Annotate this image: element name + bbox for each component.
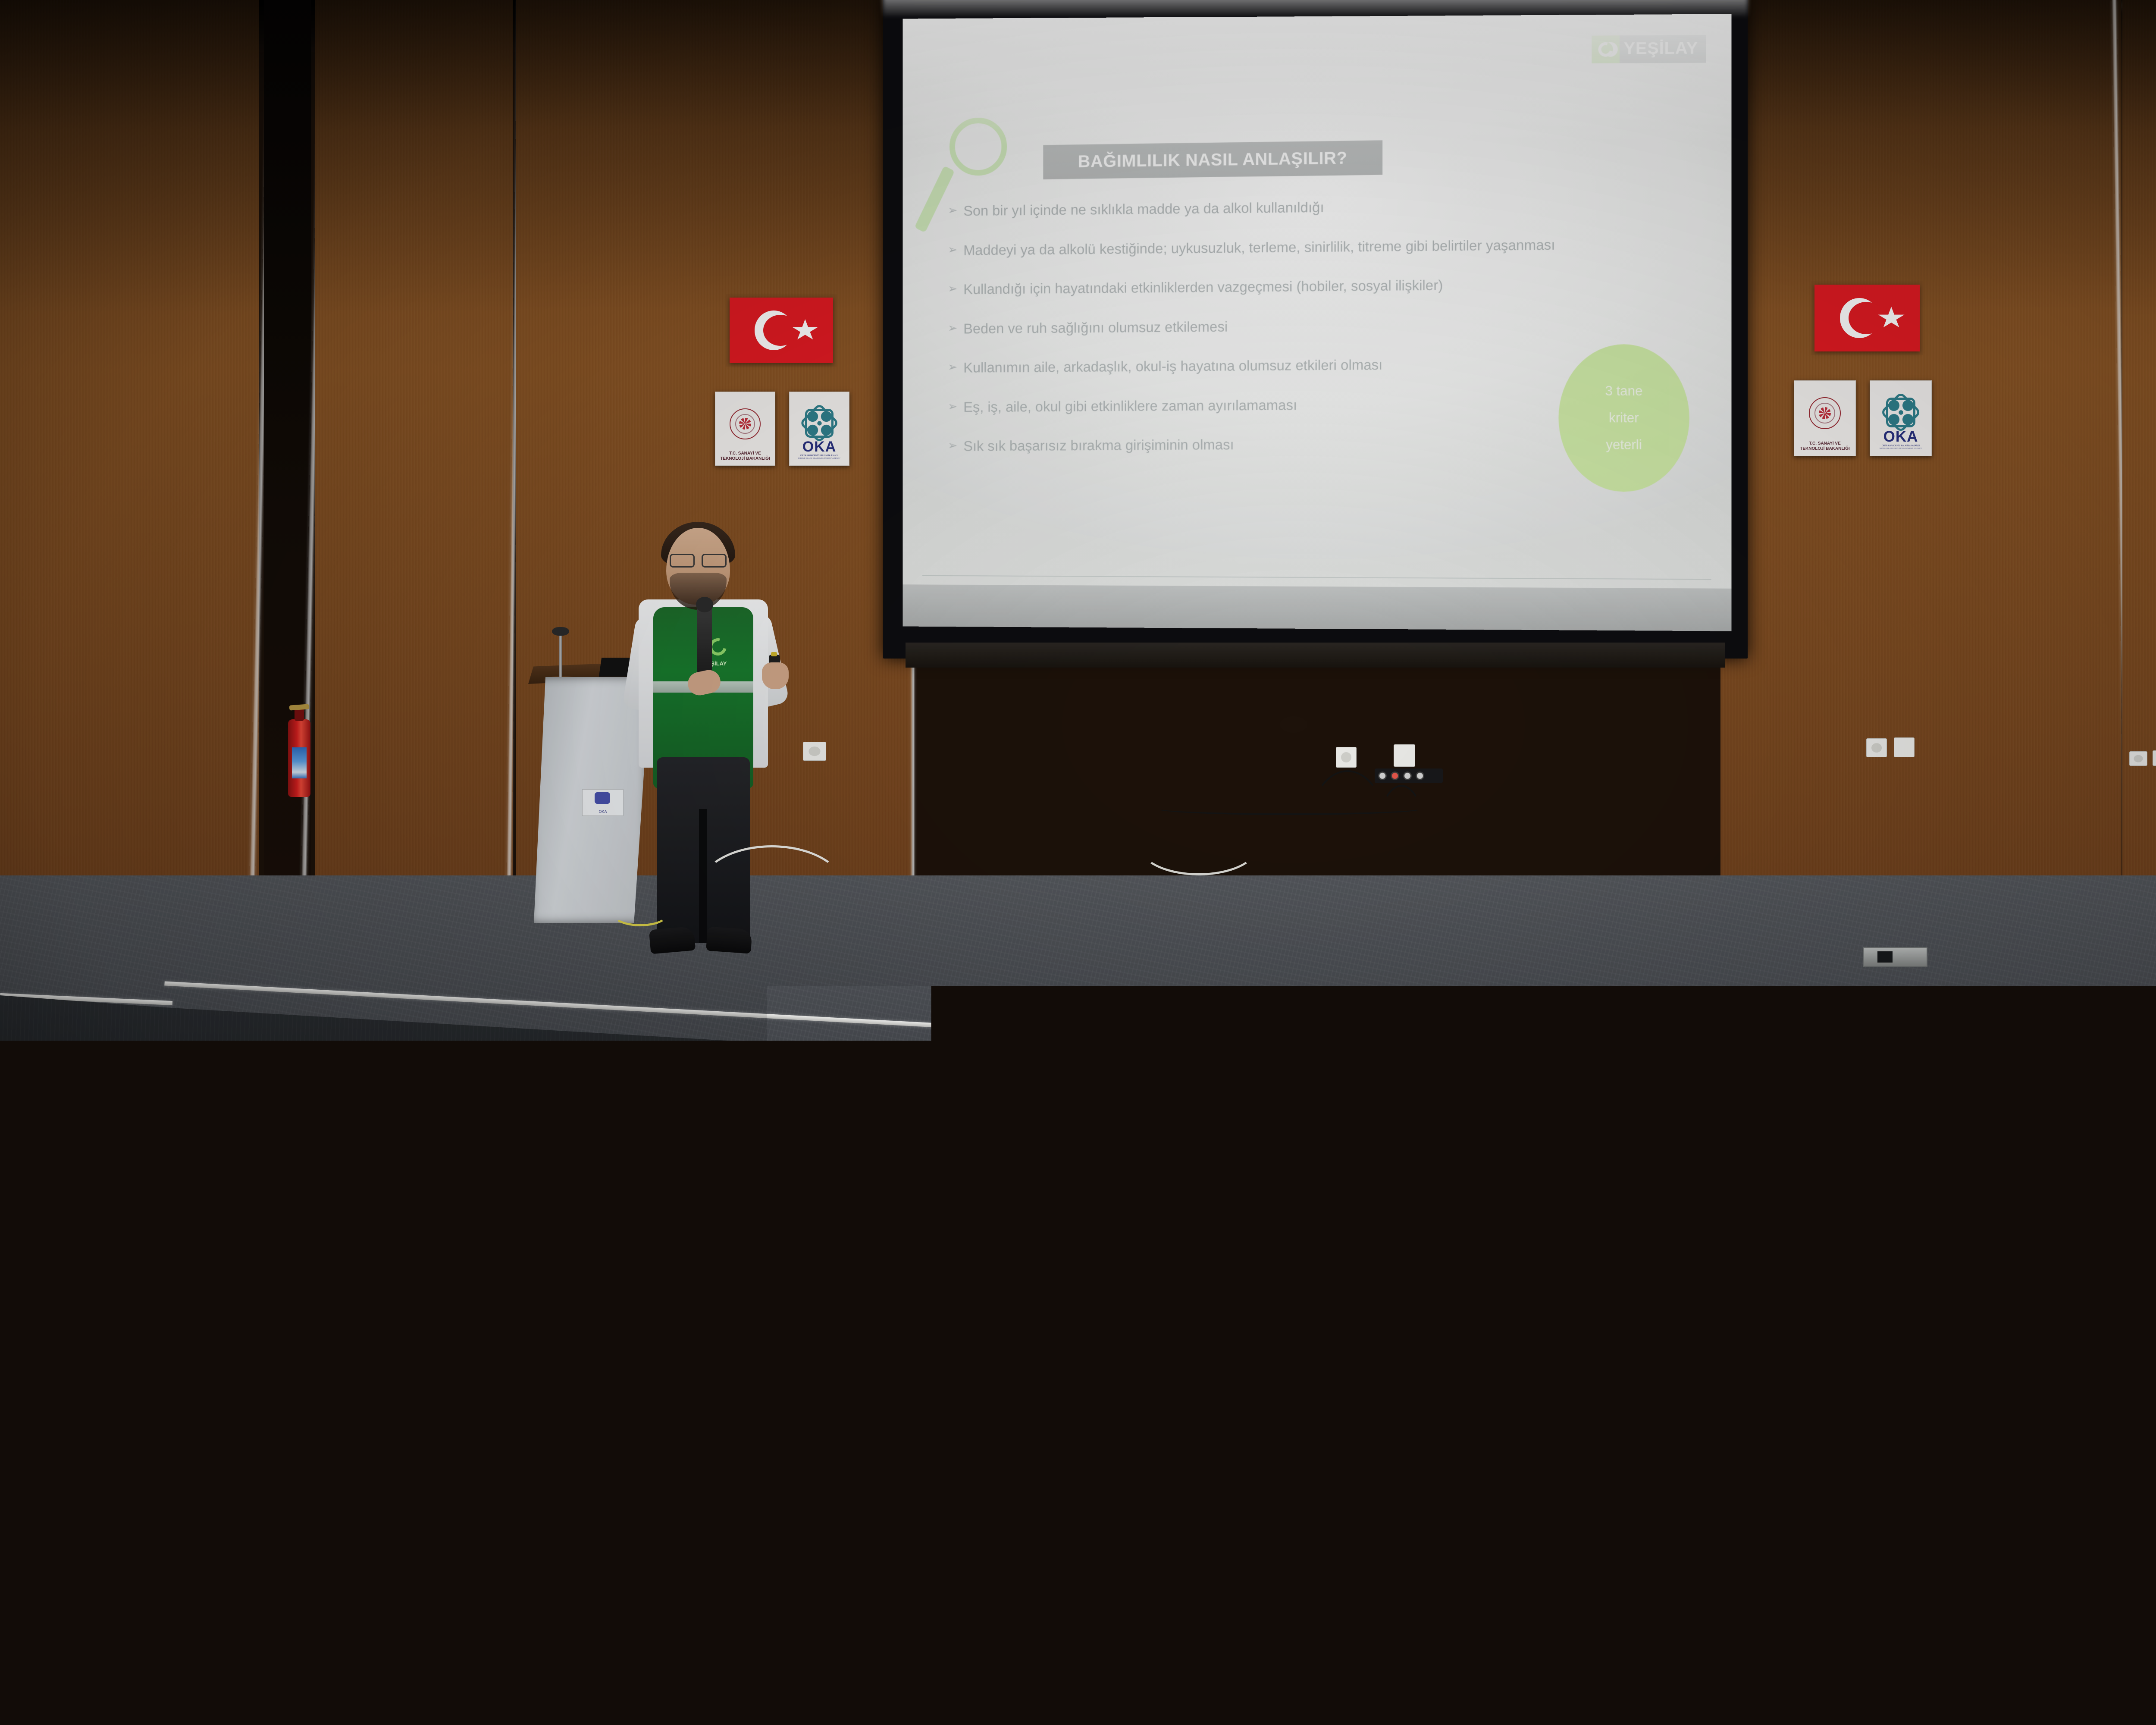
audience-member: [949, 1377, 1091, 1502]
callout-line: yeterli: [1606, 431, 1642, 458]
bullet-text: Eş, iş, aile, okul gibi etkinliklere zam…: [963, 395, 1297, 417]
white-cable: [699, 845, 845, 931]
bullet-text: Maddeyi ya da alkolü kestiğinde; uykusuz…: [963, 235, 1555, 260]
bullet-arrow-icon: ➢: [948, 397, 957, 416]
callout-line: kriter: [1609, 405, 1639, 431]
seat[interactable]: [280, 1481, 621, 1597]
bullet-arrow-icon: ➢: [948, 358, 957, 376]
wall-panel: [2122, 0, 2156, 936]
slide-bullet: ➢ Son bir yıl içinde ne sıklıkla madde y…: [948, 194, 1689, 221]
oka-rosette-icon: [1886, 397, 1916, 428]
turkish-flag: [1814, 285, 1920, 351]
projection-screen: YEŞİLAY BAĞIMLILIK NASIL ANLAŞILIR? ➢ So…: [883, 0, 1748, 659]
wall-signage-left: T.C. SANAYİ VE TEKNOLOJİ BAKANLIĞI OKA O…: [707, 298, 871, 513]
headscarf: [0, 1189, 82, 1279]
seat[interactable]: [1095, 1276, 1371, 1363]
hair-clip: [625, 1216, 655, 1251]
ministry-line-2: TEKNOLOJİ BAKANLIĞI: [1800, 446, 1850, 452]
seat[interactable]: [0, 1371, 250, 1471]
seat[interactable]: [979, 1489, 1319, 1605]
bullet-text: Son bir yıl içinde ne sıklıkla madde ya …: [963, 198, 1324, 221]
yellow-cable: [612, 901, 668, 926]
yesilay-crescent-icon: [1592, 35, 1620, 63]
bullet-text: Sık sık başarısız bırakma girişiminin ol…: [963, 435, 1234, 456]
screen-surface: YEŞİLAY BAĞIMLILIK NASIL ANLAŞILIR? ➢ So…: [903, 14, 1732, 631]
turkish-ministry-emblem: [730, 408, 761, 439]
ministry-line-2: TEKNOLOJİ BAKANLIĞI: [720, 456, 770, 461]
headscarf: [949, 1377, 1091, 1502]
bullet-arrow-icon: ➢: [948, 201, 957, 220]
screen-bottom-band: [903, 584, 1732, 631]
slide-bullet: ➢ Maddeyi ya da alkolü kestiğinde; uykus…: [948, 233, 1689, 260]
glasses-icon: [670, 554, 727, 565]
audience-member: [0, 1189, 82, 1279]
seat[interactable]: [321, 1609, 722, 1725]
slide: YEŞİLAY BAĞIMLILIK NASIL ANLAŞILIR? ➢ So…: [903, 14, 1732, 631]
auditorium-presentation-scene: YEŞİLAY BAĞIMLILIK NASIL ANLAŞILIR? ➢ So…: [0, 0, 2156, 1725]
wall-panel: [315, 0, 513, 923]
slide-divider: [922, 575, 1711, 580]
bullet-arrow-icon: ➢: [948, 436, 957, 455]
power-outlet[interactable]: [1336, 747, 1357, 768]
slide-bullet: ➢ Kullandığı için hayatındaki etkinlikle…: [948, 273, 1689, 299]
hand: [244, 1170, 269, 1192]
audience: [0, 1113, 2156, 1725]
slide-title-bar: BAĞIMLILIK NASIL ANLAŞILIR?: [1043, 140, 1382, 179]
power-outlet[interactable]: [803, 742, 826, 761]
presenter-right-hand: [762, 662, 789, 689]
seat[interactable]: [729, 1614, 1130, 1725]
oka-rosette-icon: [805, 408, 834, 438]
podium-mic-stand: [559, 634, 562, 681]
fire-extinguisher: [288, 719, 310, 797]
callout-line: 3 tane: [1605, 378, 1642, 405]
agency-plaque: OKA ORTA KARADENİZ KALKINMA AJANSI MIDDL…: [789, 392, 849, 466]
oka-acronym: OKA: [802, 440, 837, 454]
seat[interactable]: [1136, 1618, 1537, 1725]
slide-bullet: ➢ Beden ve ruh sağlığını olumsuz etkilem…: [948, 313, 1689, 339]
bullet-text: Kullanımın aile, arkadaşlık, okul-iş hay…: [963, 355, 1382, 377]
bullet-arrow-icon: ➢: [948, 319, 957, 337]
seat[interactable]: [2027, 1475, 2156, 1591]
screen-light-spill: [883, 0, 1748, 16]
seat[interactable]: [0, 1613, 315, 1725]
presenter-shoe: [649, 926, 696, 954]
bullet-text: Kullandığı için hayatındaki etkinliklerd…: [963, 275, 1443, 299]
yesilay-wordmark: YEŞİLAY: [1620, 35, 1706, 63]
turkish-ministry-emblem: [1809, 397, 1841, 429]
screen-valance: [906, 643, 1725, 668]
bullet-arrow-icon: ➢: [948, 240, 957, 259]
wall-panel: [0, 0, 259, 923]
power-outlet[interactable]: [1394, 744, 1415, 767]
seat[interactable]: [630, 1484, 970, 1601]
seat[interactable]: [2106, 1362, 2156, 1461]
stage-floor-box[interactable]: [1863, 947, 1927, 967]
oka-subtitle-en: MIDDLE BLACK SEA DEVELOPMENT AGENCY: [798, 457, 840, 459]
oka-subtitle-en: MIDDLE BLACK SEA DEVELOPMENT AGENCY: [1880, 447, 1922, 449]
audience-member: [1384, 1376, 1531, 1502]
seat[interactable]: [1772, 1187, 2022, 1264]
seat[interactable]: [1951, 1608, 2156, 1725]
slide-title: BAĞIMLILIK NASIL ANLAŞILIR?: [1078, 148, 1347, 171]
ministry-plaque: T.C. SANAYİ VE TEKNOLOJİ BAKANLIĞI: [715, 392, 775, 466]
bullet-arrow-icon: ➢: [948, 279, 957, 298]
power-outlet[interactable]: [1894, 737, 1915, 757]
phone[interactable]: [951, 1127, 974, 1160]
white-cable: [1138, 815, 1259, 875]
oka-acronym: OKA: [1883, 430, 1918, 444]
ministry-line-1: T.C. SANAYİ VE: [720, 451, 770, 456]
slide-callout-circle: 3 tane kriter yeterli: [1558, 344, 1689, 492]
power-outlet[interactable]: [2153, 750, 2156, 766]
headscarf: [1384, 1376, 1531, 1502]
agency-plaque: OKA ORTA KARADENİZ KALKINMA AJANSI MIDDL…: [1870, 380, 1932, 456]
seat[interactable]: [1544, 1613, 1945, 1725]
power-outlet[interactable]: [2129, 751, 2147, 766]
wall-signage-right: T.C. SANAYİ VE TEKNOLOJİ BAKANLIĞI OKA O…: [1794, 285, 1958, 500]
seat[interactable]: [1328, 1484, 1669, 1601]
presenter-shoe: [706, 926, 752, 953]
ministry-line-1: T.C. SANAYİ VE: [1800, 441, 1850, 446]
cable: [1156, 802, 1423, 815]
bullet-text: Beden ve ruh sağlığını olumsuz etkilemes…: [963, 317, 1228, 338]
seat[interactable]: [0, 1483, 272, 1600]
ministry-plaque: T.C. SANAYİ VE TEKNOLOJİ BAKANLIĞI: [1794, 380, 1856, 456]
power-outlet[interactable]: [1866, 738, 1887, 757]
yesilay-logo: YEŞİLAY: [1592, 35, 1706, 63]
turkish-flag: [730, 298, 833, 363]
